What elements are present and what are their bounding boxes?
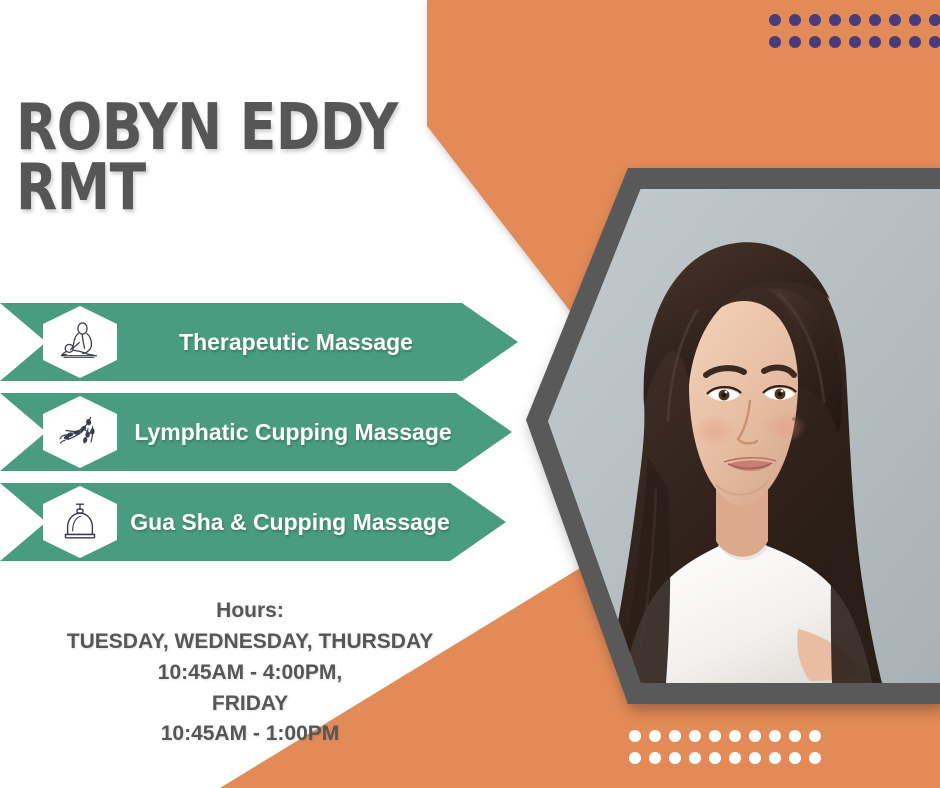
decor-dot-shape [909,36,921,48]
decor-dot [805,726,825,746]
decor-dot [925,32,940,52]
decor-dot [745,748,765,768]
decor-dot-shape [889,36,901,48]
decor-dot [725,748,745,768]
cupping-glass-icon [43,486,117,558]
decor-dot-shape [849,36,861,48]
decor-dot [785,748,805,768]
decor-dot [885,32,905,52]
decor-dot-shape [649,730,661,742]
decor-dot-shape [709,730,721,742]
decor-dot [865,10,885,30]
decor-dot-shape [769,14,781,26]
decor-dot-shape [669,730,681,742]
decor-dot-shape [709,752,721,764]
decor-dot-shape [689,752,701,764]
decor-dot-shape [829,36,841,48]
decor-dot [645,726,665,746]
decor-dot [685,748,705,768]
decor-dot-shape [809,14,821,26]
decor-dot [665,748,685,768]
service-banner[interactable]: Therapeutic Massage [0,303,518,381]
decor-dot-shape [789,730,801,742]
massage-therapy-icon [43,306,117,378]
decor-dot-shape [649,752,661,764]
page-title: ROBYN EDDY RMT [16,98,416,218]
decor-dot-shape [629,730,641,742]
decor-dot [625,726,645,746]
decor-dot [845,10,865,30]
decor-dot-shape [889,14,901,26]
decor-dot-shape [769,730,781,742]
decor-dot [685,726,705,746]
decor-dot [865,32,885,52]
decor-dot [785,32,805,52]
decor-dot [885,10,905,30]
decor-dot-shape [769,36,781,48]
decor-dot [805,32,825,52]
decor-dot [825,10,845,30]
decor-dot [785,726,805,746]
decor-dot-shape [829,14,841,26]
decor-dot-shape [729,730,741,742]
decor-dot-shape [789,14,801,26]
decor-dot [725,726,745,746]
hours-block: Hours: TUESDAY, WEDNESDAY, THURSDAY 10:4… [10,596,490,750]
service-label: Therapeutic Massage [130,328,462,356]
decor-dot-shape [849,14,861,26]
decor-dot-shape [669,752,681,764]
decor-dot [805,748,825,768]
decor-dot [645,748,665,768]
decor-dot-shape [929,14,940,26]
decor-dot-shape [869,36,881,48]
decor-dot-shape [789,752,801,764]
decor-dot [765,32,785,52]
decor-dot [785,10,805,30]
decor-dot [925,10,940,30]
decor-dot-shape [749,752,761,764]
decor-dot [905,32,925,52]
decor-dot [765,10,785,30]
service-banner[interactable]: Lymphatic Cupping Massage [0,393,512,471]
decor-dot [705,726,725,746]
service-banner[interactable]: Gua Sha & Cupping Massage [0,483,506,561]
decor-dot [845,32,865,52]
poster-canvas: ROBYN EDDY RMT Therap [0,0,940,788]
decor-dot-shape [769,752,781,764]
decor-dot-shape [789,36,801,48]
decor-dot-shape [729,752,741,764]
decor-dot-shape [689,730,701,742]
decor-dot-shape [629,752,641,764]
decor-dot [805,10,825,30]
decor-dot-shape [909,14,921,26]
decor-dot-shape [929,36,940,48]
decor-dot [825,32,845,52]
decor-dot-shape [809,752,821,764]
decor-dot [905,10,925,30]
dot-grid-bottom-right [625,726,825,770]
decor-dot [765,726,785,746]
decor-dot [625,748,645,768]
decor-dot [745,726,765,746]
decor-dot-shape [809,36,821,48]
lymphatic-vessel-icon [43,396,117,468]
decor-dot-shape [749,730,761,742]
decor-dot [765,748,785,768]
service-label: Gua Sha & Cupping Massage [130,508,450,536]
dot-grid-top-right [765,10,940,54]
decor-dot [705,748,725,768]
decor-dot [665,726,685,746]
decor-dot-shape [809,730,821,742]
service-label: Lymphatic Cupping Massage [130,418,456,446]
portrait-hexagon [526,168,940,704]
decor-dot-shape [869,14,881,26]
